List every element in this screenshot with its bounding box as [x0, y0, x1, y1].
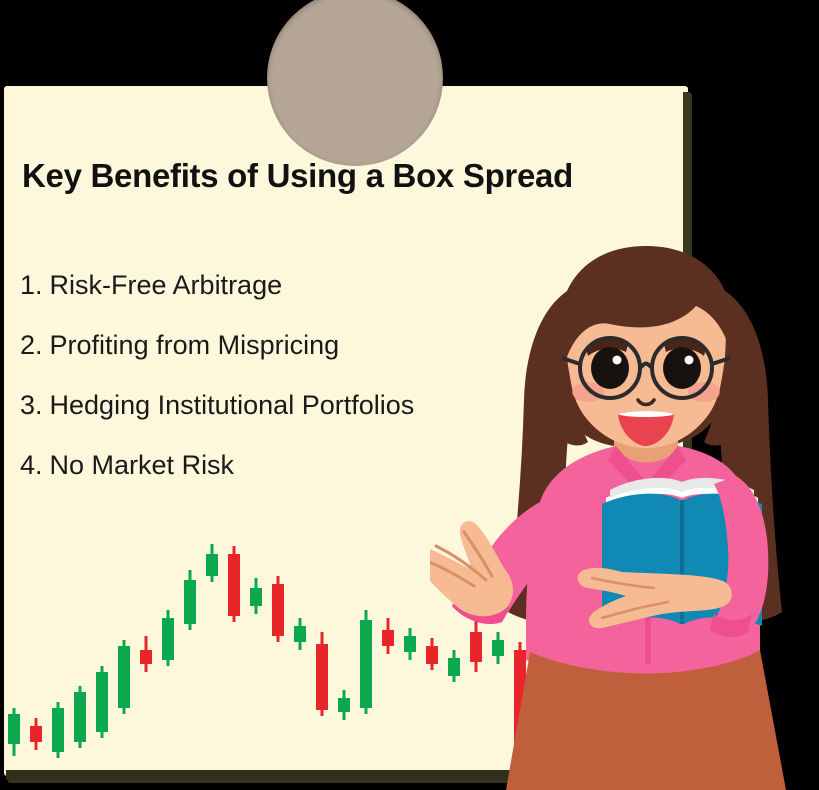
eye-highlight — [613, 356, 622, 365]
candle-body — [74, 692, 86, 742]
candle-body — [228, 554, 240, 616]
candle-body — [118, 646, 130, 708]
candle-body — [30, 726, 42, 742]
candle-body — [360, 620, 372, 708]
candle-body — [184, 580, 196, 624]
list-item-label: Risk-Free Arbitrage — [50, 270, 283, 300]
page-title: Key Benefits of Using a Box Spread — [22, 157, 682, 195]
candle-body — [294, 626, 306, 642]
candle-body — [140, 650, 152, 664]
candle-body — [250, 588, 262, 606]
eye — [663, 347, 701, 389]
eye — [591, 347, 629, 389]
list-item-label: Profiting from Mispricing — [50, 330, 340, 360]
candle-body — [52, 708, 64, 752]
eye-highlight — [685, 356, 694, 365]
candle-body — [162, 618, 174, 660]
candle-body — [382, 630, 394, 646]
list-item-number: 1. — [20, 270, 43, 300]
list-item-number: 2. — [20, 330, 43, 360]
candle-body — [338, 698, 350, 712]
candle-body — [316, 644, 328, 710]
candle-body — [96, 672, 108, 732]
candle-body — [8, 714, 20, 744]
list-item-label: No Market Risk — [50, 450, 235, 480]
candle-body — [272, 584, 284, 636]
list-item-label: Hedging Institutional Portfolios — [50, 390, 415, 420]
candle-body — [404, 636, 416, 652]
candle-body — [206, 554, 218, 576]
female-presenter-icon — [430, 240, 819, 790]
list-item-number: 3. — [20, 390, 43, 420]
infographic-slide: Key Benefits of Using a Box Spread 1.Ris… — [0, 0, 819, 790]
list-item-number: 4. — [20, 450, 43, 480]
